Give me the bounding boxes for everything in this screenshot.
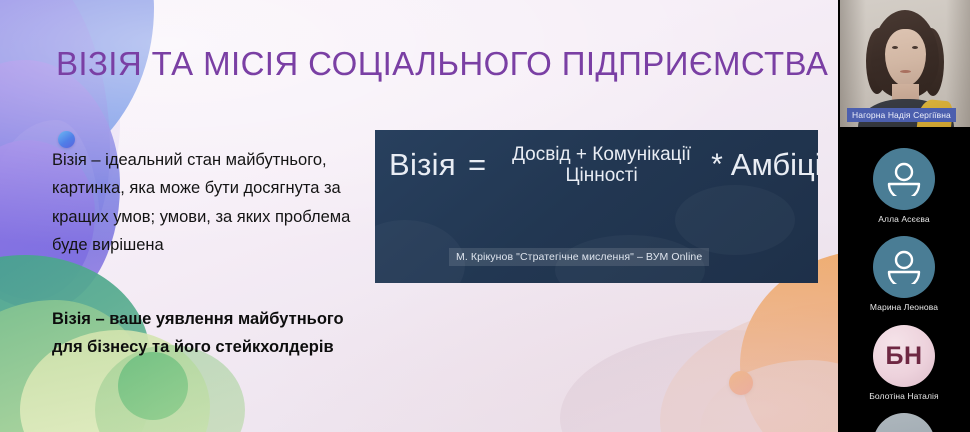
participant-tile-0[interactable]: Алла Асєєва bbox=[838, 148, 970, 224]
mauve-swoosh bbox=[560, 330, 838, 432]
participant-avatar-0 bbox=[873, 148, 935, 210]
formula-right-term: Амбіції bbox=[731, 147, 818, 183]
participant-rail[interactable]: Нагорна Надія Сергіївна Алла Асєєва Мари… bbox=[838, 0, 970, 432]
warm-swoosh-2 bbox=[700, 360, 838, 432]
formula-equals-sign: = bbox=[468, 147, 486, 183]
participant-tile-2[interactable]: БН Болотіна Наталія bbox=[838, 325, 970, 401]
speaker-eye-left bbox=[892, 46, 898, 49]
formula-denominator: Цінності bbox=[565, 163, 637, 186]
shared-slide-content: ВІЗІЯ ТА МІСІЯ СОЦІАЛЬНОГО ПІДПРИЄМСТВА … bbox=[0, 0, 838, 432]
speaker-mouth bbox=[900, 70, 911, 73]
person-icon bbox=[886, 162, 922, 196]
formula-source-credit: М. Крікунов "Стратегічне мислення" – ВУМ… bbox=[449, 248, 709, 266]
formula-left-term: Візія bbox=[389, 147, 456, 183]
active-speaker-name-label: Нагорна Надія Сергіївна bbox=[847, 108, 956, 122]
person-icon bbox=[886, 250, 922, 284]
formula-fraction: Досвід + Комунікації Цінності bbox=[508, 144, 695, 187]
active-speaker-video-tile[interactable]: Нагорна Надія Сергіївна bbox=[840, 0, 970, 127]
participant-avatar-2: БН bbox=[873, 325, 935, 387]
slide-bold-paragraph: Візія – ваше уявлення майбутнього для бі… bbox=[52, 305, 352, 362]
participant-name-1: Марина Леонова bbox=[838, 302, 970, 312]
participant-tile-1[interactable]: Марина Леонова bbox=[838, 236, 970, 312]
green-circle-accent bbox=[118, 352, 188, 420]
participant-name-2: Болотіна Наталія bbox=[838, 391, 970, 401]
formula-multiply-sign: * bbox=[711, 148, 723, 182]
orange-circle-accent bbox=[729, 371, 753, 395]
formula-expression: Візія = Досвід + Комунікації Цінності * … bbox=[389, 144, 818, 187]
participant-tile-3[interactable] bbox=[838, 413, 970, 432]
vision-formula-card: Візія = Досвід + Комунікації Цінності * … bbox=[375, 130, 818, 283]
participant-avatar-3 bbox=[873, 413, 935, 432]
participant-name-0: Алла Асєєва bbox=[838, 214, 970, 224]
zoom-meeting-screenshare-window: ВІЗІЯ ТА МІСІЯ СОЦІАЛЬНОГО ПІДПРИЄМСТВА … bbox=[0, 0, 970, 432]
participant-initials-2: БН bbox=[885, 342, 922, 371]
warm-swoosh-1 bbox=[660, 300, 838, 432]
card-glow-3 bbox=[675, 185, 795, 255]
participant-avatar-1 bbox=[873, 236, 935, 298]
slide-title: ВІЗІЯ ТА МІСІЯ СОЦІАЛЬНОГО ПІДПРИЄМСТВА bbox=[56, 46, 816, 82]
slide-body-paragraph: Візія – ідеальний стан майбутнього, карт… bbox=[52, 146, 352, 260]
speaker-eye-right bbox=[912, 46, 918, 49]
